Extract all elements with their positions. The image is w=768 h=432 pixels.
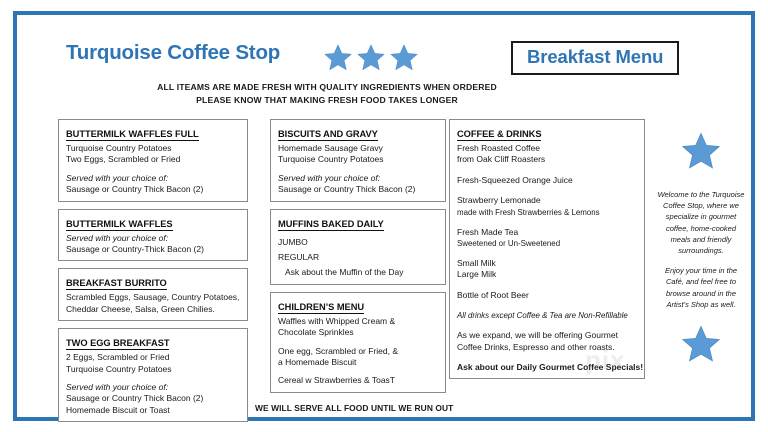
header-star-group [323, 43, 419, 72]
choice-options: Sausage or Country Thick Bacon (2) [66, 184, 241, 195]
spacer [278, 339, 439, 346]
spacer [457, 353, 638, 362]
notice-line-2: PLEASE KNOW THAT MAKING FRESH FOOD TAKES… [17, 94, 637, 107]
menu-section-muffins-baked-daily: MUFFINS BAKED DAILY JUMBO REGULAR Ask ab… [270, 209, 446, 285]
spacer [457, 218, 638, 227]
welcome-paragraph-2: Enjoy your time in the Café, and feel fr… [653, 265, 749, 310]
choice-label: Served with your choice of: [66, 382, 241, 393]
section-title: TWO EGG BREAKFAST [66, 338, 169, 350]
menu-section-biscuits-and-gravy: BISCUITS AND GRAVY Homemade Sausage Grav… [270, 119, 446, 202]
menu-item-line: Two Eggs, Scrambled or Fried [66, 154, 241, 165]
menu-section-buttermilk-waffles: BUTTERMILK WAFFLES Served with your choi… [58, 209, 248, 262]
menu-column-3: COFFEE & DRINKS Fresh Roasted Coffee fro… [449, 119, 645, 387]
star-icon [653, 131, 749, 171]
spacer [457, 301, 638, 310]
choice-options-extra: Homemade Biscuit or Toast [66, 405, 241, 416]
drink-item-sub: made with Fresh Strawberries & Lemons [457, 207, 638, 218]
star-icon [356, 43, 386, 72]
choice-label: Served with your choice of: [66, 173, 241, 184]
menu-frame: Turquoise Coffee Stop [13, 11, 755, 421]
spacer [457, 321, 638, 330]
expansion-note-line: As we expand, we will be offering Gourme… [457, 330, 638, 341]
menu-item-line: Waffles with Whipped Cream & [278, 316, 439, 327]
choice-label: Served with your choice of: [278, 173, 439, 184]
menu-item-line: Scrambled Eggs, Sausage, Country Potatoe… [66, 292, 241, 303]
section-title: CHILDREN’S MENU [278, 302, 364, 314]
star-icon [323, 43, 353, 72]
menu-item-line: Turquoise Country Potatoes [66, 143, 241, 154]
spacer [457, 166, 638, 175]
drink-item-line: Strawberry Lemonade [457, 195, 638, 206]
spacer [457, 249, 638, 258]
menu-section-two-egg-breakfast: TWO EGG BREAKFAST 2 Eggs, Scrambled or F… [58, 328, 248, 422]
menu-item-line: One egg, Scrambled or Fried, & [278, 346, 439, 357]
daily-specials-callout: Ask about our Daily Gourmet Coffee Speci… [457, 362, 638, 373]
menu-item-line: Turquoise Country Potatoes [278, 154, 439, 165]
drink-item-line: Fresh Made Tea [457, 227, 638, 238]
menu-item-line: Cheddar Cheese, Salsa, Green Chilies. [66, 304, 241, 315]
spacer [653, 171, 749, 189]
serve-until-out-note: WE WILL SERVE ALL FOOD UNTIL WE RUN OUT [255, 403, 453, 413]
drink-item-line: from Oak Cliff Roasters [457, 154, 638, 165]
welcome-paragraph-1: Welcome to the Turquoise Coffee Stop, wh… [653, 189, 749, 256]
star-icon [653, 324, 749, 364]
section-title: BUTTERMILK WAFFLES FULL [66, 129, 199, 141]
menu-column-1: BUTTERMILK WAFFLES FULL Turquoise Countr… [58, 119, 248, 429]
menu-item-line: a Homemade Biscuit [278, 357, 439, 368]
star-icon [389, 43, 419, 72]
menu-item-line: Cereal w Strawberries & ToasT [278, 375, 439, 386]
section-title: COFFEE & DRINKS [457, 129, 541, 141]
expansion-note-line: Coffee Drinks, Espresso and other roasts… [457, 342, 638, 353]
freshness-notice: ALL ITEAMS ARE MADE FRESH WITH QUALITY I… [17, 81, 637, 107]
menu-header: Turquoise Coffee Stop [17, 15, 751, 73]
spacer [66, 166, 241, 173]
choice-options: Sausage or Country-Thick Bacon (2) [66, 244, 241, 255]
menu-section-coffee-and-drinks: COFFEE & DRINKS Fresh Roasted Coffee fro… [449, 119, 645, 379]
spacer [278, 368, 439, 375]
menu-section-childrens-menu: CHILDREN’S MENU Waffles with Whipped Cre… [270, 292, 446, 393]
spacer [653, 256, 749, 265]
menu-item-line: Turquoise Country Potatoes [66, 364, 241, 375]
menu-item-line: JUMBO [278, 237, 439, 248]
drink-item-line: Bottle of Root Beer [457, 290, 638, 301]
drink-item-line: Large Milk [457, 269, 638, 280]
drink-item-line: Fresh Roasted Coffee [457, 143, 638, 154]
menu-item-line: Chocolate Sprinkles [278, 327, 439, 338]
drink-item-line: Small Milk [457, 258, 638, 269]
muffin-of-the-day-note: Ask about the Muffin of the Day [278, 267, 439, 278]
drink-item-sub: Sweetened or Un-Sweetened [457, 238, 638, 249]
spacer [457, 281, 638, 290]
menu-type-badge: Breakfast Menu [511, 41, 679, 75]
section-title: MUFFINS BAKED DAILY [278, 219, 384, 231]
section-title: BREAKFAST BURRITO [66, 278, 167, 290]
spacer [457, 186, 638, 195]
menu-item-line: Homemade Sausage Gravy [278, 143, 439, 154]
welcome-sidebar: Welcome to the Turquoise Coffee Stop, wh… [653, 119, 749, 364]
spacer [278, 166, 439, 173]
page-title: Turquoise Coffee Stop [66, 41, 280, 65]
menu-type-label: Breakfast Menu [527, 46, 663, 67]
menu-item-line: REGULAR [278, 252, 439, 263]
choice-options: Sausage or Country Thick Bacon (2) [66, 393, 241, 404]
menu-item-line: 2 Eggs, Scrambled or Fried [66, 352, 241, 363]
menu-section-breakfast-burrito: BREAKFAST BURRITO Scrambled Eggs, Sausag… [58, 268, 248, 321]
refill-policy-note: All drinks except Coffee & Tea are Non-R… [457, 310, 638, 321]
choice-options: Sausage or Country Thick Bacon (2) [278, 184, 439, 195]
notice-line-1: ALL ITEAMS ARE MADE FRESH WITH QUALITY I… [17, 81, 637, 94]
drink-item-line: Fresh-Squeezed Orange Juice [457, 175, 638, 186]
spacer [66, 375, 241, 382]
section-title: BUTTERMILK WAFFLES [66, 219, 173, 231]
menu-page: Turquoise Coffee Stop [0, 0, 768, 432]
menu-section-buttermilk-waffles-full: BUTTERMILK WAFFLES FULL Turquoise Countr… [58, 119, 248, 202]
choice-label: Served with your choice of: [66, 233, 241, 244]
section-title: BISCUITS AND GRAVY [278, 129, 378, 141]
menu-column-2: BISCUITS AND GRAVY Homemade Sausage Grav… [270, 119, 446, 400]
